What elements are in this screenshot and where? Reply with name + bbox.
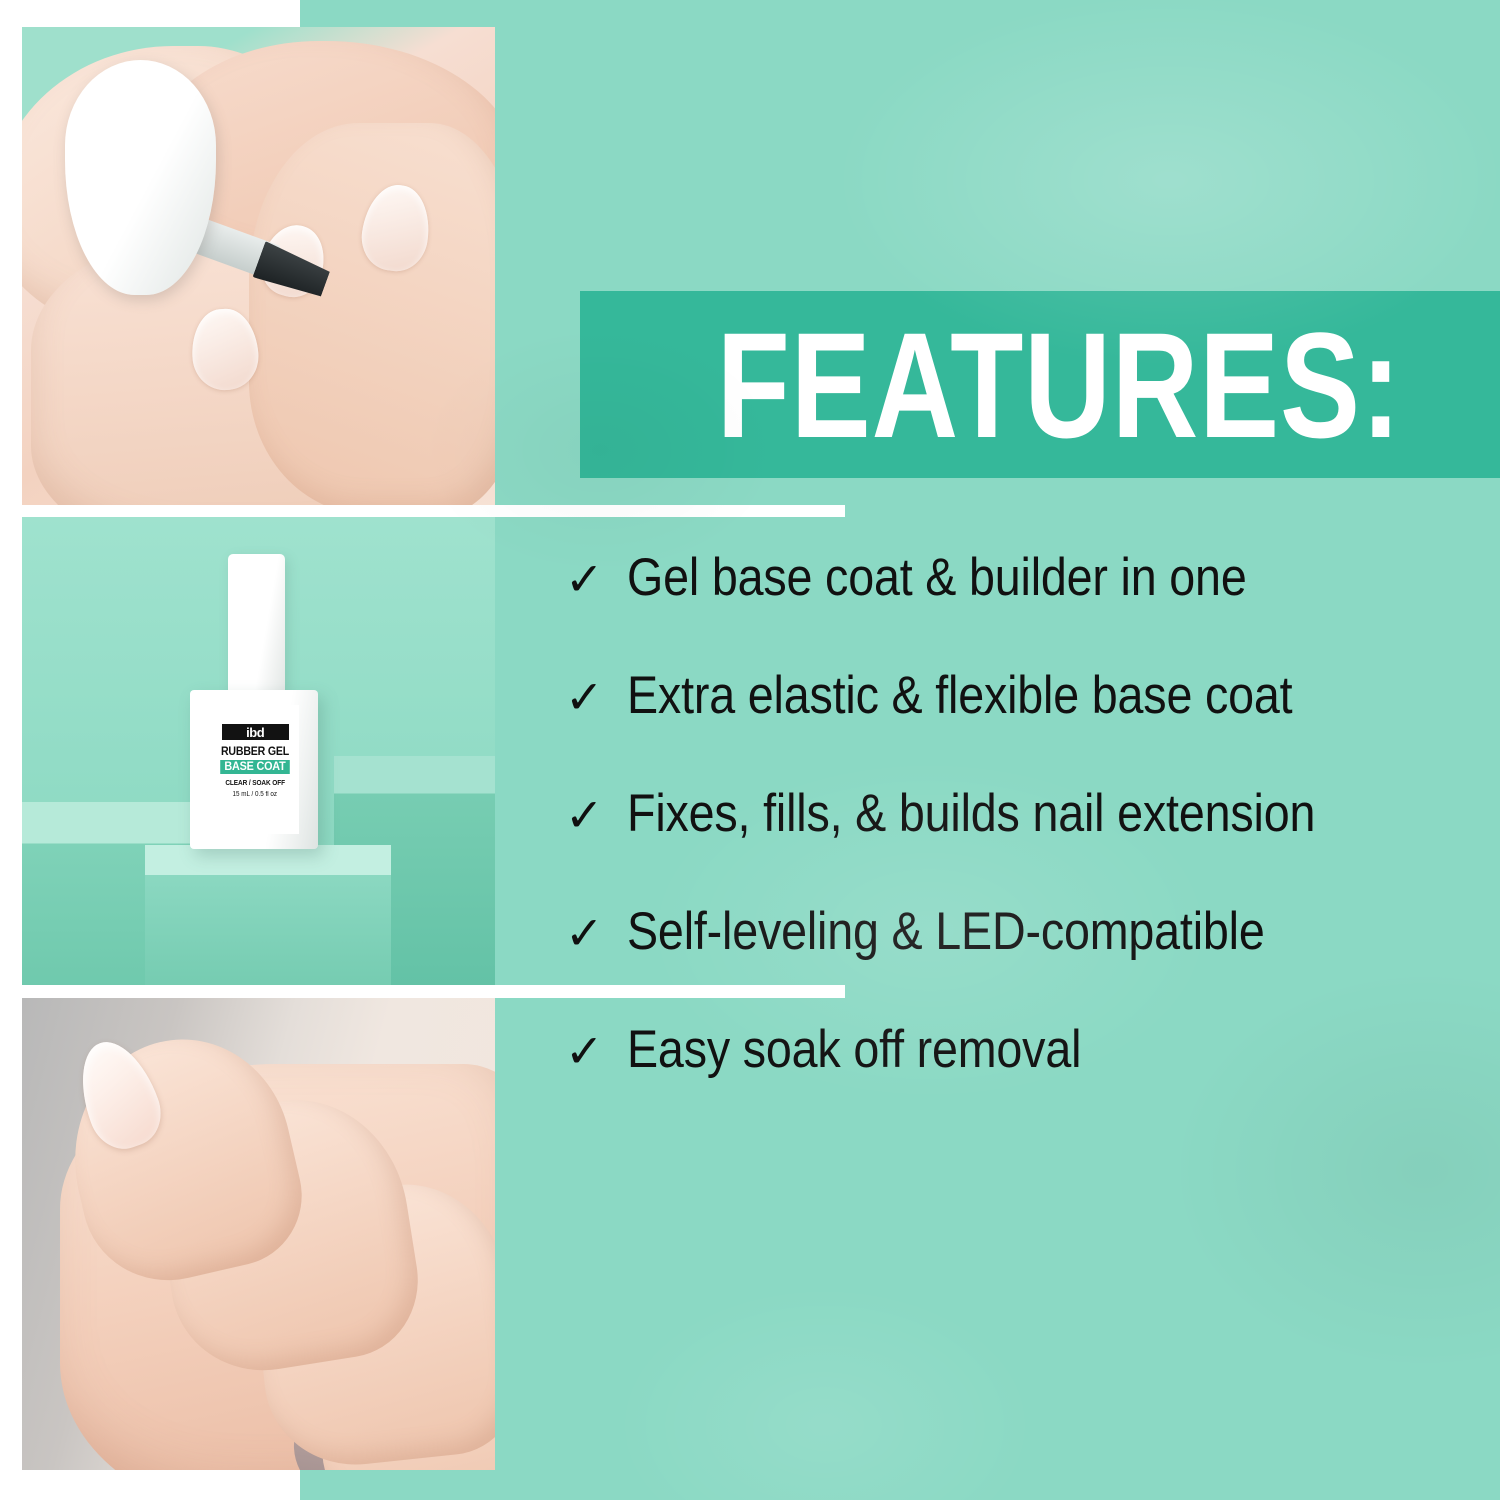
check-icon: ✓: [565, 1028, 627, 1074]
white-margin-top: [0, 0, 300, 27]
product-label: ibd RUBBER GEL BASE COAT CLEAR / SOAK OF…: [211, 705, 299, 834]
label-product-line: RUBBER GEL: [221, 746, 289, 758]
photo-applying-base-coat: [22, 27, 495, 505]
feature-label: Easy soak off removal: [627, 1023, 1081, 1076]
ibd-brand-logo: ibd: [222, 724, 289, 740]
feature-label: Extra elastic & flexible base coat: [627, 669, 1292, 722]
feature-label: Fixes, fills, & builds nail extension: [627, 787, 1315, 840]
list-item: ✓ Extra elastic & flexible base coat: [565, 669, 1475, 787]
check-icon: ✓: [565, 910, 627, 956]
check-icon: ✓: [565, 674, 627, 720]
check-icon: ✓: [565, 792, 627, 838]
label-product-size: 15 mL / 0.5 fl oz: [233, 791, 278, 798]
page-title: FEATURES:: [717, 310, 1402, 460]
ibd-brand-text: ibd: [246, 726, 264, 739]
feature-label: Gel base coat & builder in one: [627, 551, 1247, 604]
list-item: ✓ Easy soak off removal: [565, 1023, 1475, 1141]
check-icon: ✓: [565, 556, 627, 602]
photo-finished-nails-closeup: [22, 998, 495, 1470]
features-header-band: FEATURES:: [580, 291, 1500, 478]
white-gutter-between-photo-1-and-2: [0, 505, 845, 517]
label-product-finish: CLEAR / SOAK OFF: [225, 778, 285, 787]
feature-label: Self-leveling & LED-compatible: [627, 905, 1265, 958]
features-list: ✓ Gel base coat & builder in one ✓ Extra…: [565, 551, 1475, 1141]
white-margin-left: [0, 0, 22, 1412]
marketing-image-canvas: ibd RUBBER GEL BASE COAT CLEAR / SOAK OF…: [0, 0, 1500, 1500]
label-product-type: BASE COAT: [220, 760, 289, 774]
list-item: ✓ Self-leveling & LED-compatible: [565, 905, 1475, 1023]
photo-product-bottle-on-podium: ibd RUBBER GEL BASE COAT CLEAR / SOAK OF…: [22, 517, 495, 985]
bottle-cap: [228, 554, 285, 694]
list-item: ✓ Gel base coat & builder in one: [565, 551, 1475, 669]
list-item: ✓ Fixes, fills, & builds nail extension: [565, 787, 1475, 905]
